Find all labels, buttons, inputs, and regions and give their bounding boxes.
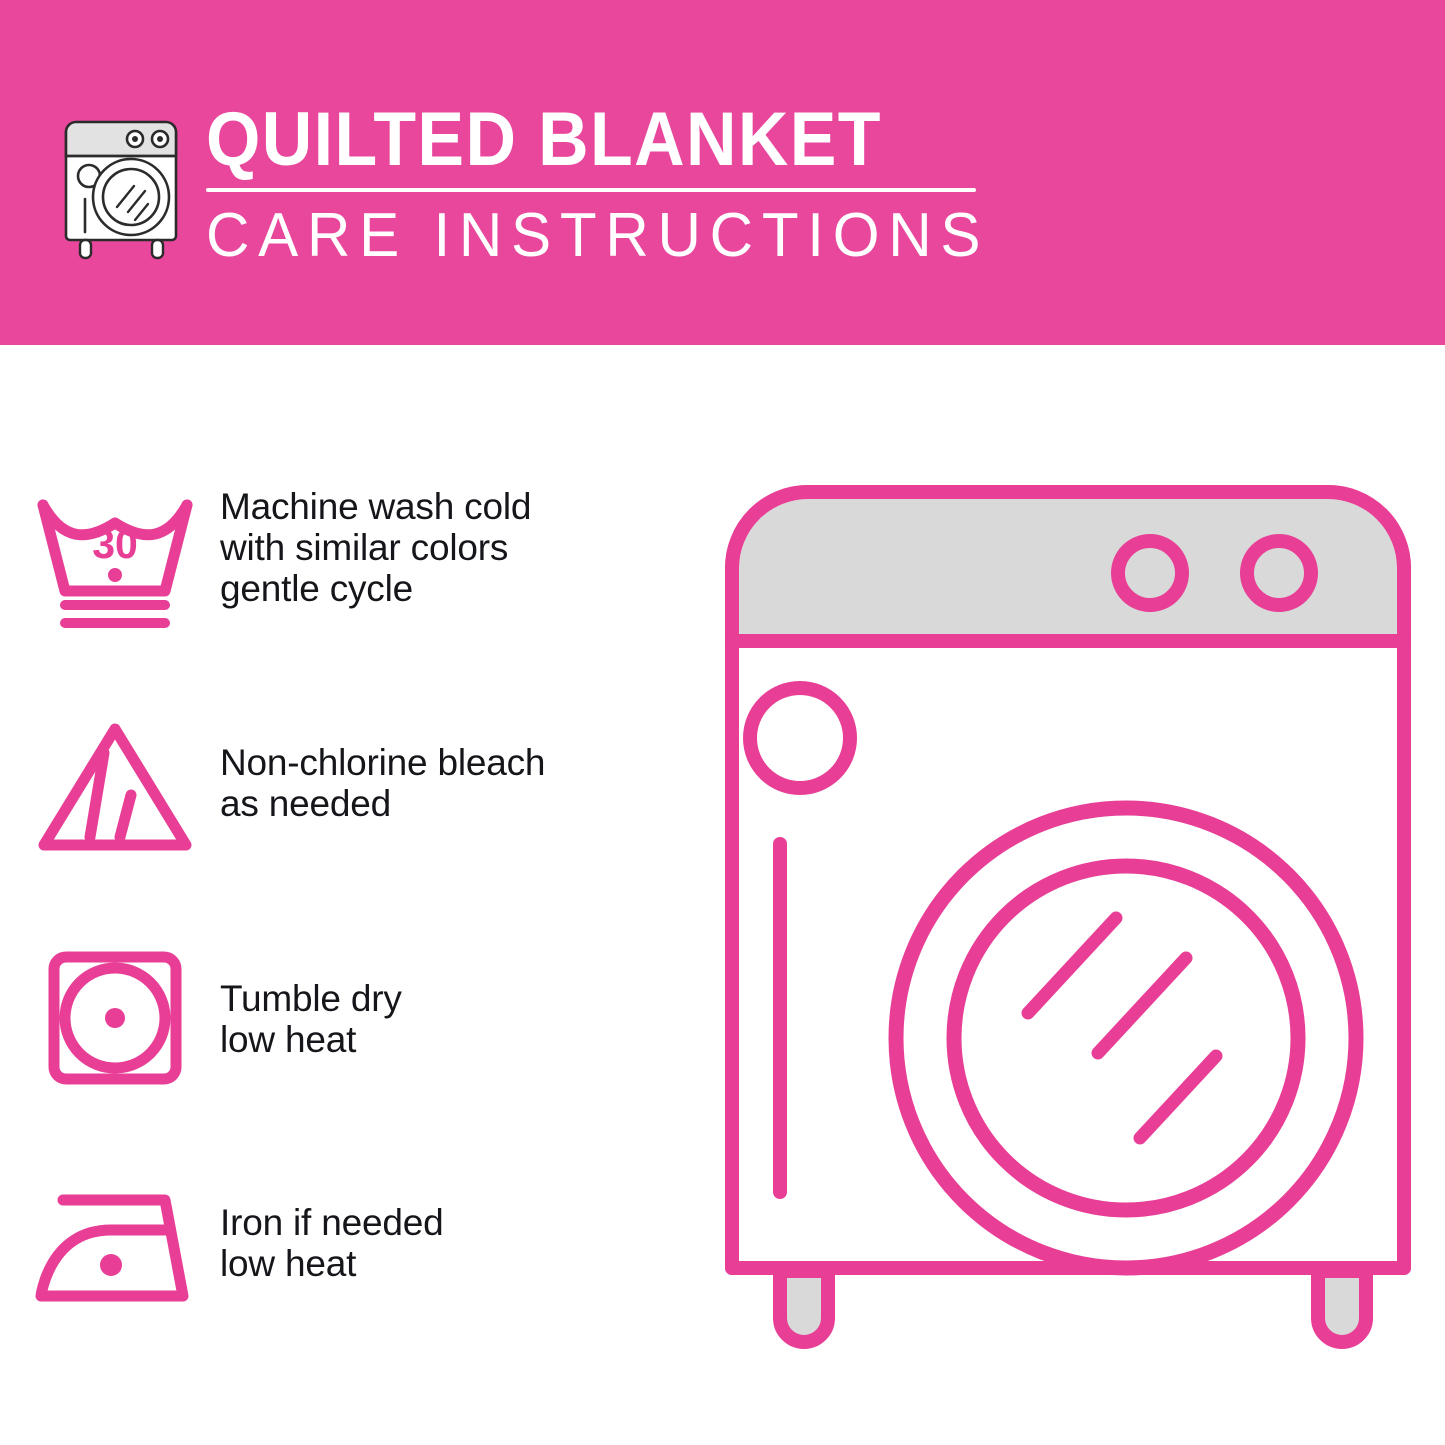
care-instruction-list: 30 Machine wash cold with similar colors…	[0, 470, 700, 1390]
care-line: gentle cycle	[220, 568, 531, 609]
washing-machine-icon	[58, 104, 190, 262]
care-line: Iron if needed	[220, 1202, 443, 1243]
iron-low-heat-icon	[0, 1160, 220, 1335]
care-line: Tumble dry	[220, 978, 402, 1019]
care-text-machine-wash: Machine wash cold with similar colors ge…	[220, 470, 531, 609]
care-line: with similar colors	[220, 527, 531, 568]
title-divider	[206, 188, 976, 192]
header-banner: QUILTED BLANKET CARE INSTRUCTIONS	[0, 0, 1445, 345]
care-row-machine-wash: 30 Machine wash cold with similar colors…	[0, 470, 700, 700]
care-text-iron: Iron if needed low heat	[220, 1160, 443, 1284]
large-washing-machine-illustration	[718, 478, 1418, 1378]
care-text-bleach: Non-chlorine bleach as needed	[220, 700, 545, 824]
care-line: Non-chlorine bleach	[220, 742, 545, 783]
header-text-block: QUILTED BLANKET CARE INSTRUCTIONS	[206, 100, 996, 270]
care-row-tumble-dry: Tumble dry low heat	[0, 930, 700, 1160]
care-line: Machine wash cold	[220, 486, 531, 527]
machine-wash-30-gentle-icon: 30	[0, 470, 220, 645]
leg-right	[1318, 1271, 1366, 1342]
page-title: QUILTED BLANKET	[206, 100, 933, 180]
care-line: low heat	[220, 1019, 402, 1060]
care-line: as needed	[220, 783, 545, 824]
wash-temperature-label: 30	[92, 521, 138, 567]
leg-left	[780, 1271, 828, 1342]
care-instructions-infographic: QUILTED BLANKET CARE INSTRUCTIONS 30	[0, 0, 1445, 1445]
knob-left	[1118, 541, 1182, 605]
non-chlorine-bleach-icon	[0, 700, 220, 875]
care-row-bleach: Non-chlorine bleach as needed	[0, 700, 700, 930]
door-inner-ring	[954, 866, 1298, 1210]
care-line: low heat	[220, 1243, 443, 1284]
care-row-iron: Iron if needed low heat	[0, 1160, 700, 1390]
tumble-dry-low-icon	[0, 930, 220, 1105]
care-text-tumble-dry: Tumble dry low heat	[220, 930, 402, 1060]
knob-right	[1247, 541, 1311, 605]
detergent-port	[750, 688, 850, 788]
page-subtitle: CARE INSTRUCTIONS	[206, 202, 972, 270]
